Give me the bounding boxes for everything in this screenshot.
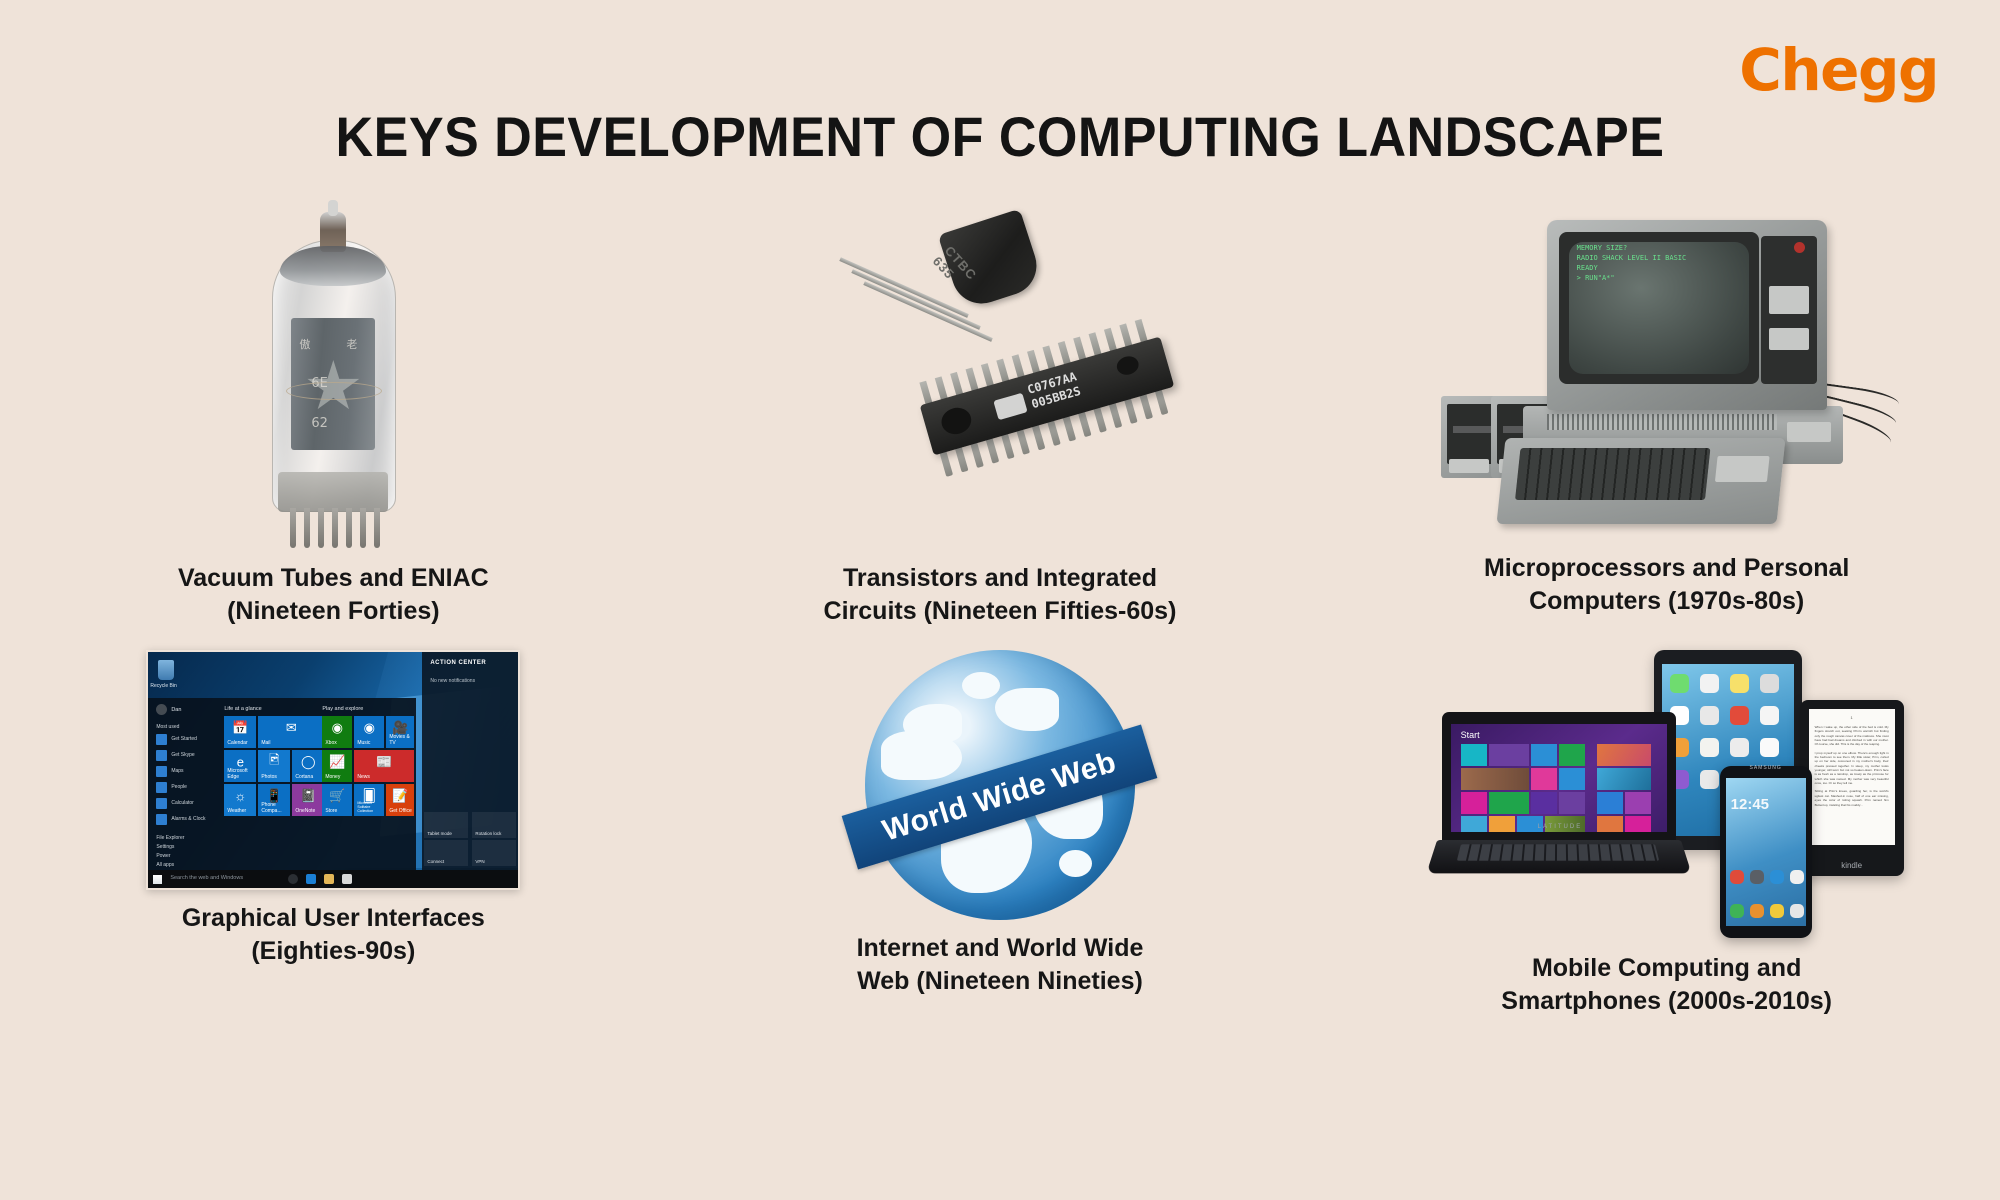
screen-line: RADIO SHACK LEVEL II BASIC [1577, 254, 1749, 262]
ereader-page-number: 1 [1815, 715, 1889, 720]
caption-line-2: Smartphones (2000s-2010s) [1452, 985, 1882, 1018]
power-indicator [1794, 242, 1805, 253]
start-item-power[interactable]: Power [156, 853, 170, 859]
ereader-paragraph: Sitting at Prim's knees, guarding her, i… [1815, 789, 1889, 806]
phone-clock: 12:45 [1731, 796, 1769, 813]
recycle-bin-label: Recycle Bin [150, 683, 176, 689]
transistor-ic-image: CTBC 635 [800, 210, 1200, 550]
tile-store[interactable]: 🛒Store [322, 784, 352, 816]
phone-brand-label: SAMSUNG [1720, 765, 1812, 771]
tile-solitaire[interactable]: 🂠Microsoft Solitaire Collection [354, 784, 384, 816]
card-caption: Internet and World Wide Web (Nineteen Ni… [785, 932, 1215, 998]
screen-line: MEMORY SIZE? [1577, 244, 1749, 252]
caption-line-1: Transistors and Integrated [785, 562, 1215, 595]
caption-line-1: Microprocessors and Personal [1452, 552, 1882, 585]
phone-screen: 12:45 [1726, 778, 1806, 926]
start-item-get-started[interactable]: Get Started [171, 736, 197, 742]
ereader-device: 1 When I wake up, the other side of the … [1800, 700, 1904, 876]
crt-screen: MEMORY SIZE? RADIO SHACK LEVEL II BASIC … [1569, 242, 1749, 374]
action-center-title: ACTION CENTER [430, 660, 486, 666]
ereader-paragraph: I prop myself up on one elbow. There's e… [1815, 751, 1889, 786]
tile-calendar[interactable]: 📅Calendar [224, 716, 256, 748]
card-microprocessors: MEMORY SIZE? RADIO SHACK LEVEL II BASIC … [1333, 210, 2000, 650]
card-transistors: CTBC 635 [667, 210, 1334, 650]
file-explorer-icon[interactable] [324, 874, 334, 884]
tube-marking-2: 62 [311, 416, 328, 431]
caption-line-2: (Nineteen Forties) [118, 595, 548, 628]
ic-manufacturer-logo [993, 393, 1027, 420]
card-vacuum-tubes: 傲 老 6E 62 Vacuum Tubes and ENIAC ( [0, 210, 667, 650]
taskbar: Search the web and Windows [148, 870, 518, 888]
tile-xbox[interactable]: ◉Xbox [322, 716, 352, 748]
caption-line-2: Computers (1970s-80s) [1452, 585, 1882, 618]
windows10-screenshot: Recycle Bin ACTION CENTER No new notific… [146, 650, 520, 890]
start-button-icon[interactable] [153, 875, 162, 884]
card-mobile: Start [1333, 650, 2000, 1070]
start-item-file-explorer[interactable]: File Explorer [156, 835, 184, 841]
laptop-start-label: Start [1461, 730, 1480, 740]
tile-group-1-label: Life at a glance [224, 706, 261, 712]
start-item-all-apps[interactable]: All apps [156, 862, 174, 868]
tile-news[interactable]: 📰News [354, 750, 414, 782]
tile-cortana[interactable]: ◯Cortana [292, 750, 324, 782]
ereader-screen: 1 When I wake up, the other side of the … [1809, 709, 1895, 845]
start-user-name[interactable]: Dan [171, 707, 181, 713]
action-center-note: No new notifications [430, 678, 475, 684]
card-caption: Graphical User Interfaces (Eighties-90s) [118, 902, 548, 968]
tube-marking-cn1: 傲 [299, 336, 310, 352]
vacuum-tube-image: 傲 老 6E 62 [258, 210, 408, 550]
screen-line: > RUN"A*" [1577, 274, 1749, 282]
www-globe-image: World Wide Web [865, 650, 1135, 920]
ereader-paragraph: When I wake up, the other side of the be… [1815, 725, 1889, 747]
tile-group-2-label: Play and explore [322, 706, 363, 712]
caption-line-1: Mobile Computing and [1452, 952, 1882, 985]
card-gui: Recycle Bin ACTION CENTER No new notific… [0, 650, 667, 1070]
laptop-brand-label: LATITUDE [1538, 824, 1583, 830]
caption-line-1: Graphical User Interfaces [118, 902, 548, 935]
quick-action-tablet-mode[interactable]: Tablet mode [424, 812, 468, 838]
card-caption: Microprocessors and Personal Computers (… [1452, 552, 1882, 618]
card-www: World Wide Web Internet and World Wide W… [667, 650, 1334, 1070]
smartphone-device: SAMSUNG 12:45 [1720, 766, 1812, 938]
task-view-icon[interactable] [288, 874, 298, 884]
laptop-device: Start [1432, 712, 1686, 872]
transistor-code: CTBC 635 [930, 243, 980, 294]
screen-line: READY [1577, 264, 1749, 272]
tile-get-office[interactable]: 📝Get Office [386, 784, 414, 816]
quick-action-rotation-lock[interactable]: Rotation lock [472, 812, 516, 838]
caption-line-1: Vacuum Tubes and ENIAC [118, 562, 548, 595]
quick-action-vpn[interactable]: VPN [472, 840, 516, 866]
laptop-screen: Start [1451, 724, 1667, 832]
keyboard[interactable] [1496, 438, 1785, 524]
tile-microsoft-edge[interactable]: eMicrosoft Edge [224, 750, 256, 782]
start-item-get-skype[interactable]: Get Skype [171, 752, 194, 758]
start-item-settings[interactable]: Settings [156, 844, 174, 850]
mobile-devices-image: Start [1432, 650, 1902, 940]
chegg-logo: Chegg [1739, 36, 1938, 104]
start-item-people[interactable]: People [171, 784, 187, 790]
transistor-body: CTBC 635 [938, 209, 1045, 312]
action-center-panel: ACTION CENTER No new notifications Table… [422, 652, 518, 870]
tile-phone-companion[interactable]: 📱Phone Compa... [258, 784, 290, 816]
tile-mail[interactable]: ✉Mail [258, 716, 324, 748]
caption-line-1: Internet and World Wide [785, 932, 1215, 965]
tile-photos[interactable]: 🖻Photos [258, 750, 290, 782]
card-caption: Mobile Computing and Smartphones (2000s-… [1452, 952, 1882, 1018]
start-menu: Dan Most used Get Started Get Skype Maps… [148, 698, 416, 870]
tile-music[interactable]: ◉Music [354, 716, 384, 748]
caption-line-2: (Eighties-90s) [118, 935, 548, 968]
ic-code: C0767AA 005BB2S [1026, 369, 1083, 412]
recycle-bin-icon[interactable] [158, 660, 174, 680]
ereader-brand-label: kindle [1800, 861, 1904, 870]
start-item-alarms[interactable]: Alarms & Clock [171, 816, 205, 822]
tile-movies-tv[interactable]: 🎥Movies & TV [386, 716, 414, 748]
timeline-grid: 傲 老 6E 62 Vacuum Tubes and ENIAC ( [0, 210, 2000, 1070]
store-icon[interactable] [342, 874, 352, 884]
crt-monitor: MEMORY SIZE? RADIO SHACK LEVEL II BASIC … [1547, 220, 1827, 410]
vintage-computer-image: MEMORY SIZE? RADIO SHACK LEVEL II BASIC … [1437, 210, 1897, 540]
tube-marking-cn2: 老 [346, 336, 357, 352]
card-caption: Vacuum Tubes and ENIAC (Nineteen Forties… [118, 562, 548, 628]
edge-icon[interactable] [306, 874, 316, 884]
start-item-maps[interactable]: Maps [171, 768, 183, 774]
most-used-label: Most used [156, 724, 179, 730]
card-caption: Transistors and Integrated Circuits (Nin… [785, 562, 1215, 628]
tile-money[interactable]: 📈Money [322, 750, 352, 782]
laptop-keyboard[interactable] [1426, 840, 1691, 873]
taskbar-search-input[interactable]: Search the web and Windows [170, 875, 243, 881]
start-item-calculator[interactable]: Calculator [171, 800, 194, 806]
page-title: KEYS DEVELOPMENT OF COMPUTING LANDSCAPE [70, 104, 1930, 169]
caption-line-2: Web (Nineteen Nineties) [785, 965, 1215, 998]
tile-onenote[interactable]: 📓OneNote [292, 784, 324, 816]
tile-weather[interactable]: ☼Weather [224, 784, 256, 816]
quick-action-connect[interactable]: Connect [424, 840, 468, 866]
caption-line-2: Circuits (Nineteen Fifties-60s) [785, 595, 1215, 628]
